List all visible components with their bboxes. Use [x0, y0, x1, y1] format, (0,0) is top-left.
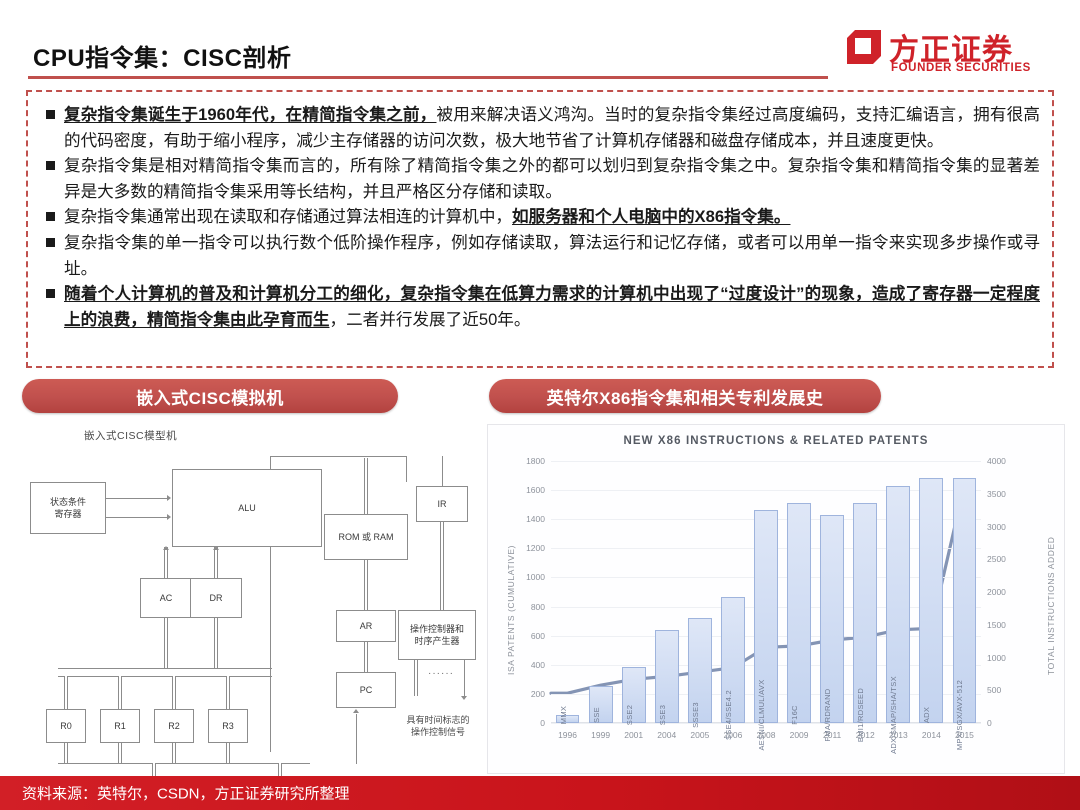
chart-y-tick-label: 600: [531, 631, 545, 641]
chart-x-tick-label: 2009: [790, 730, 809, 740]
title-underline-rule: [28, 76, 828, 79]
chart-plot-area: 0200400600800100012001400160018000500100…: [551, 461, 981, 723]
diagram-node-ac: AC: [140, 578, 192, 618]
chart-x-tick-label: 2013: [889, 730, 908, 740]
chart-y-tick-label: 1200: [526, 543, 545, 553]
chart-x-tick-label: 2015: [955, 730, 974, 740]
chart-bar-label: F16C: [790, 705, 799, 725]
chart-x-tick-label: 2006: [723, 730, 742, 740]
bullet-item: 复杂指令集是相对精简指令集而言的，所有除了精简指令集之外的都可以划归到复杂指令集…: [42, 153, 1040, 204]
chart-bar: [919, 478, 943, 723]
diagram-bus-r2: [172, 676, 176, 709]
page-title: CPU指令集：CISC剖析: [33, 38, 292, 73]
chart-bar-label: MMX: [559, 706, 568, 724]
diagram-wire-status-alu-2: [106, 517, 168, 518]
chart-bar-label: SSE: [592, 707, 601, 723]
chart-x-tick-label: 2008: [757, 730, 776, 740]
chart-y-axis-label: ISA PATENTS (CUMULATIVE): [506, 545, 516, 675]
company-logo: 方正证券 FOUNDER SECURITIES: [847, 26, 1062, 78]
diagram-bus-ir-controller: [440, 522, 444, 582]
bullet-item: 复杂指令集的单一指令可以执行数个低阶操作程序，例如存储读取，算法运行和记忆存储，…: [42, 230, 1040, 281]
chart-y2-tick-label: 1000: [987, 653, 1006, 663]
bullet-text-segment: 复杂指令集诞生于1960年代，在精简指令集之前，: [64, 105, 436, 124]
bullet-text-segment: ，二者并行发展了近50年。: [330, 310, 531, 329]
diagram-node-r3: R3: [208, 709, 248, 743]
diagram-ellipsis: ······: [428, 668, 454, 679]
diagram-node-rom-ram: ROM 或 RAM: [324, 514, 408, 560]
bullet-square-icon: [46, 212, 55, 221]
section-banner-left-label: 嵌入式CISC模拟机: [136, 384, 284, 409]
diagram-arrow-pc: [353, 709, 359, 713]
diagram-wire-controller-out-2: [464, 660, 465, 696]
chart-y-tick-label: 1000: [526, 572, 545, 582]
chart-gridline: [551, 461, 981, 462]
bullet-text-segment: 随着个人计算机的普及和计算机分工的细化，复杂指令集在低算力需求的计算机中出现了“…: [64, 284, 1040, 329]
chart-bar-label: ADX: [922, 707, 931, 723]
bullet-text-segment: 复杂指令集是相对精简指令集而言的，所有除了精简指令集之外的都可以划归到复杂指令集…: [64, 156, 1040, 201]
chart-x-tick-label: 1996: [558, 730, 577, 740]
diagram-bus-r2-low: [172, 743, 176, 763]
chart-y-tick-label: 200: [531, 689, 545, 699]
diagram-wire-status-alu-1: [106, 498, 168, 499]
diagram-arrow-status-alu-1: [167, 495, 171, 501]
chart-y2-tick-label: 1500: [987, 620, 1006, 630]
chart-x-tick-label: 2005: [690, 730, 709, 740]
slide: CPU指令集：CISC剖析 方正证券 FOUNDER SECURITIES 复杂…: [0, 0, 1080, 810]
founder-securities-logo-icon: [847, 30, 881, 64]
logo-english-name: FOUNDER SECURITIES: [891, 62, 1031, 74]
chart-y-tick-label: 400: [531, 660, 545, 670]
bullet-square-icon: [46, 238, 55, 247]
bullet-item: 随着个人计算机的普及和计算机分工的细化，复杂指令集在低算力需求的计算机中出现了“…: [42, 281, 1040, 332]
chart-x-tick-label: 2014: [922, 730, 941, 740]
chart-bar-label: ADX/SMAP/SHA/TSX: [889, 676, 898, 754]
chart-y-tick-label: 1400: [526, 514, 545, 524]
diagram-bus-r0-low: [64, 743, 68, 763]
chart-y2-tick-label: 3000: [987, 522, 1006, 532]
diagram-databus-lower: [58, 676, 272, 677]
chart-y2-axis-label: TOTAL INSTRUCTIONS ADDED: [1046, 537, 1056, 675]
diagram-bus-r1: [118, 676, 122, 709]
source-footer: 资料来源：英特尔，CSDN，方正证券研究所整理: [0, 776, 1080, 810]
bullet-square-icon: [46, 289, 55, 298]
diagram-bus-dr-databus: [214, 618, 218, 668]
diagram-wire-top-horizontal: [270, 456, 406, 457]
chart-bar-label: SSSE3: [691, 702, 700, 728]
chart-x-tick-label: 2004: [657, 730, 676, 740]
diagram-node-controller: 操作控制器和时序产生器: [398, 610, 476, 660]
diagram-bus-r1-low: [118, 743, 122, 763]
diagram-node-ar: AR: [336, 610, 396, 642]
diagram-node-r0: R0: [46, 709, 86, 743]
diagram-bus-alu-dr: [214, 547, 218, 578]
diagram-bus-alu-ac: [164, 547, 168, 578]
diagram-bus-r3: [226, 676, 230, 709]
content-text-box: 复杂指令集诞生于1960年代，在精简指令集之前，被用来解决语义鸿沟。当时的复杂指…: [26, 90, 1054, 368]
diagram-node-r1: R1: [100, 709, 140, 743]
diagram-node-status-register: 状态条件寄存器: [30, 482, 106, 534]
diagram-databus-bottom: [58, 763, 310, 764]
diagram-node-r2: R2: [154, 709, 194, 743]
chart-y-tick-label: 0: [540, 718, 545, 728]
chart-x-tick-label: 2012: [856, 730, 875, 740]
chart-title: NEW X86 INSTRUCTIONS & RELATED PATENTS: [488, 435, 1064, 447]
diagram-bus-r0: [64, 676, 68, 709]
chart-bar-label: SSE3: [658, 705, 667, 725]
chart-bar: [787, 503, 811, 723]
bullet-list: 复杂指令集诞生于1960年代，在精简指令集之前，被用来解决语义鸿沟。当时的复杂指…: [42, 102, 1040, 332]
diagram-caption: 嵌入式CISC模型机: [84, 428, 177, 443]
section-banner-left: 嵌入式CISC模拟机: [22, 379, 398, 413]
diagram-arrow-ac-alu: [163, 546, 169, 550]
bullet-item: 复杂指令集诞生于1960年代，在精简指令集之前，被用来解决语义鸿沟。当时的复杂指…: [42, 102, 1040, 153]
diagram-wire-ir-top: [442, 456, 443, 486]
chart-y-tick-label: 800: [531, 602, 545, 612]
diagram-node-alu: ALU: [172, 469, 322, 547]
bullet-square-icon: [46, 110, 55, 119]
diagram-control-signal-note: 具有时间标志的操作控制信号: [388, 714, 488, 738]
chart-y2-tick-label: 3500: [987, 489, 1006, 499]
bullet-text-segment: 复杂指令集通常出现在读取和存储通过算法相连的计算机中，: [64, 207, 512, 226]
cisc-block-diagram: 嵌入式CISC模型机 状态条件寄存器 ALU AC DR R0 R1 R2 R3: [24, 424, 476, 774]
diagram-databus-upper: [58, 668, 272, 669]
diagram-bus-rom-top: [364, 458, 368, 514]
bullet-square-icon: [46, 161, 55, 170]
chart-bar-label: SSE2: [625, 705, 634, 725]
diagram-arrow-dr-alu: [213, 546, 219, 550]
chart-y2-tick-label: 500: [987, 685, 1001, 695]
diagram-bus-r3-low: [226, 743, 230, 763]
diagram-arrow-controller-out-2: [461, 696, 467, 700]
diagram-arrow-status-alu-2: [167, 514, 171, 520]
diagram-bus-controller-in: [440, 582, 444, 610]
slide-header: CPU指令集：CISC剖析 方正证券 FOUNDER SECURITIES: [0, 0, 1080, 84]
diagram-bus-ac-databus: [164, 618, 168, 668]
diagram-wire-pc-bus: [356, 714, 357, 764]
bullet-item: 复杂指令集通常出现在读取和存储通过算法相连的计算机中，如服务器和个人电脑中的X8…: [42, 204, 1040, 230]
chart-y2-tick-label: 0: [987, 718, 992, 728]
bullet-text-segment: 复杂指令集的单一指令可以执行数个低阶操作程序，例如存储读取，算法运行和记忆存储，…: [64, 233, 1040, 278]
diagram-node-ir: IR: [416, 486, 468, 522]
diagram-bus-ar-rom: [364, 560, 368, 610]
diagram-bus-controller-out-1: [414, 660, 418, 696]
diagram-wire-rom-feed: [406, 456, 407, 482]
diagram-node-pc: PC: [336, 672, 396, 708]
diagram-node-dr: DR: [190, 578, 242, 618]
chart-x-tick-label: 1999: [591, 730, 610, 740]
chart-y2-tick-label: 4000: [987, 456, 1006, 466]
section-banner-right-label: 英特尔X86指令集和相关专利发展史: [547, 384, 824, 409]
bullet-text-segment: 如服务器和个人电脑中的X86指令集。: [512, 207, 790, 226]
chart-gridline: [551, 490, 981, 491]
chart-x-tick-label: 2001: [624, 730, 643, 740]
chart-y2-tick-label: 2000: [987, 587, 1006, 597]
chart-y-tick-label: 1800: [526, 456, 545, 466]
section-banner-right: 英特尔X86指令集和相关专利发展史: [489, 379, 881, 413]
chart-gridline: [551, 723, 981, 724]
diagram-bus-pc-ar: [364, 642, 368, 672]
chart-x-tick-label: 2011: [823, 730, 841, 740]
source-text: 资料来源：英特尔，CSDN，方正证券研究所整理: [22, 783, 350, 804]
x86-instructions-chart: NEW X86 INSTRUCTIONS & RELATED PATENTS 0…: [487, 424, 1065, 774]
chart-y-tick-label: 1600: [526, 485, 545, 495]
chart-y2-tick-label: 2500: [987, 554, 1006, 564]
